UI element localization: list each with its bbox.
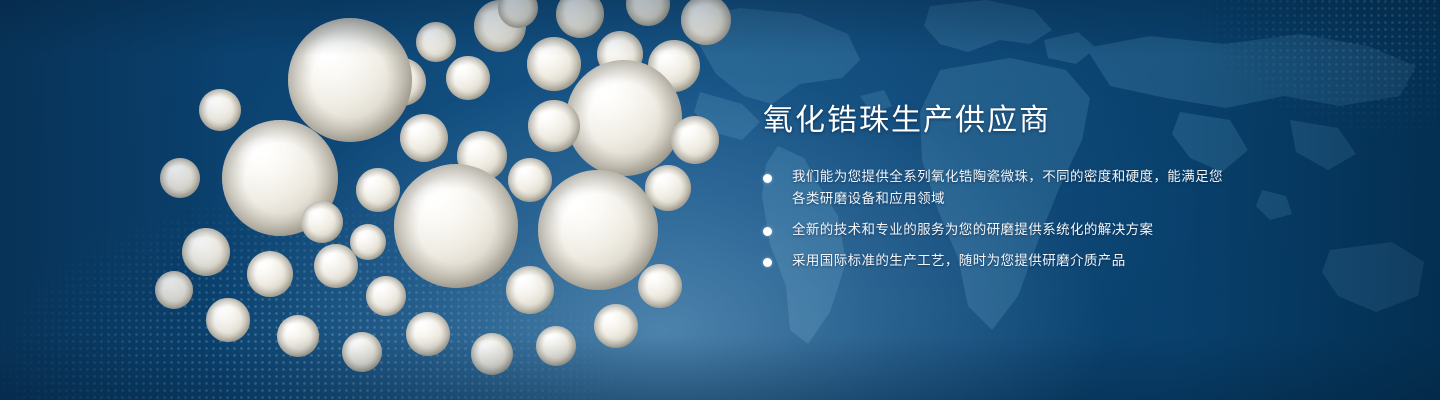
bullet-dot-icon: [763, 258, 772, 267]
list-item-label: 我们能为您提供全系列氧化锆陶瓷微珠，不同的密度和硬度，能满足您各类研磨设备和应用…: [792, 169, 1223, 207]
list-item: 采用国际标准的生产工艺，随时为您提供研磨介质产品: [763, 251, 1233, 273]
banner-copy: 氧化锆珠生产供应商 我们能为您提供全系列氧化锆陶瓷微珠，不同的密度和硬度，能满足…: [763, 104, 1233, 272]
list-item-label: 采用国际标准的生产工艺，随时为您提供研磨介质产品: [792, 253, 1126, 269]
feature-list: 我们能为您提供全系列氧化锆陶瓷微珠，不同的密度和硬度，能满足您各类研磨设备和应用…: [763, 167, 1233, 272]
zirconia-beads-photo: [150, 0, 740, 400]
banner-headline: 氧化锆珠生产供应商: [763, 104, 1233, 137]
bullet-dot-icon: [763, 227, 772, 236]
list-item: 我们能为您提供全系列氧化锆陶瓷微珠，不同的密度和硬度，能满足您各类研磨设备和应用…: [763, 167, 1233, 211]
list-item-label: 全新的技术和专业的服务为您的研磨提供系统化的解决方案: [792, 222, 1153, 238]
list-item: 全新的技术和专业的服务为您的研磨提供系统化的解决方案: [763, 220, 1233, 242]
bullet-dot-icon: [763, 174, 772, 183]
hero-banner: 氧化锆珠生产供应商 我们能为您提供全系列氧化锆陶瓷微珠，不同的密度和硬度，能满足…: [0, 0, 1440, 400]
